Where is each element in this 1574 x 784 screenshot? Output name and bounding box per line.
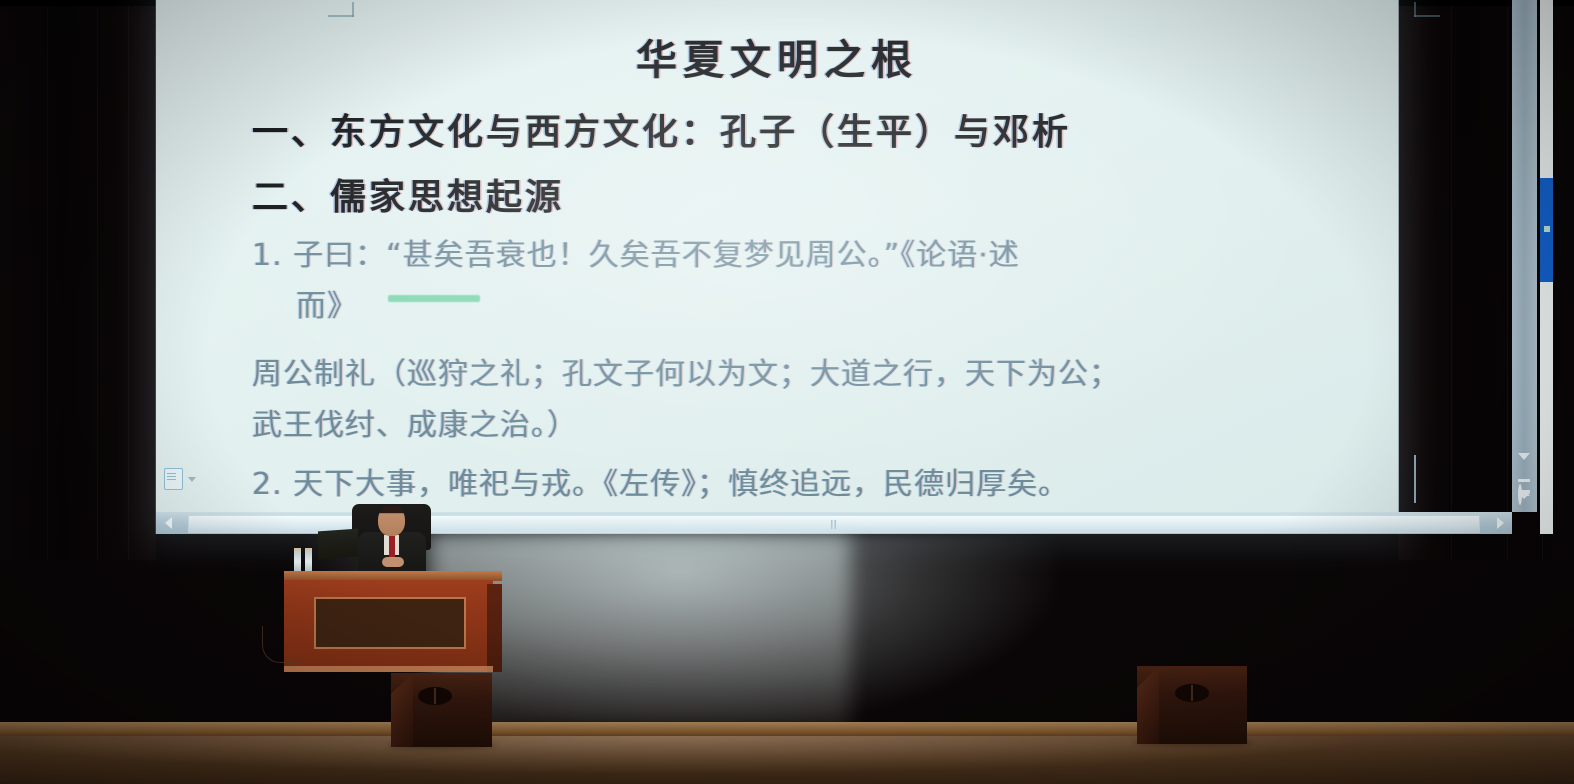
split-grip[interactable]	[831, 520, 838, 529]
speaker-grill-icon	[1175, 684, 1209, 702]
chevron-down-icon	[188, 477, 196, 482]
floor-cable	[262, 626, 299, 663]
top-left-margin-marker	[328, 2, 354, 17]
water-bottle	[294, 548, 301, 571]
word-document-page[interactable]: 华夏文明之根 一、东方文化与西方文化：孔子（生平）与邓析 二、儒家思想起源 1.…	[156, 0, 1356, 512]
water-bottle	[305, 548, 312, 571]
browse-up-button[interactable]	[1518, 473, 1531, 482]
scroll-right-arrow-icon[interactable]	[1488, 512, 1512, 534]
speaker-grill-icon	[418, 687, 452, 705]
text-insertion-caret	[1414, 455, 1416, 503]
document-paragraph-1-line-2: 而》	[296, 281, 358, 325]
podium-base-trim	[284, 666, 493, 672]
podium-side-face	[487, 584, 502, 672]
green-highlight-mark	[388, 295, 480, 302]
document-title: 华夏文明之根	[156, 26, 1398, 86]
window-scrollbar-thumb[interactable]	[1540, 178, 1553, 282]
document-paragraph-3-line-1: 2. 天下大事，唯祀与戎。《左传》；慎终追远，民德归厚矣。	[252, 459, 1069, 503]
stage-apron	[0, 736, 1574, 784]
browse-object-controls[interactable]	[1514, 460, 1535, 508]
stage-monitor-right	[1137, 666, 1247, 744]
speaker-hands	[382, 557, 404, 567]
speaker-tie	[389, 536, 395, 558]
document-heading-1: 一、东方文化与西方文化：孔子（生平）与邓析	[252, 103, 1372, 155]
document-paragraph-1-line-1: 1. 子曰：“甚矣吾衰也！久矣吾不复梦见周公。”《论语·述	[252, 230, 1020, 274]
scrollbar-thumb-grip	[1544, 226, 1550, 232]
stage-curtain-left	[0, 0, 156, 560]
lecture-hall-scene: 华夏文明之根 一、东方文化与西方文化：孔子（生平）与邓析 二、儒家思想起源 1.…	[0, 0, 1574, 784]
speaker-person	[358, 505, 426, 573]
document-paragraph-2-line-2: 武王伐纣、成康之治。）	[252, 400, 578, 444]
paste-options-icon[interactable]	[164, 468, 196, 490]
document-paragraph-2-line-1: 周公制礼（巡狩之礼；孔文子何以为文；大道之行，天下为公；	[252, 349, 1120, 393]
stage-monitor-left	[391, 673, 492, 747]
podium-inset-panel	[314, 597, 466, 649]
paste-page-glyph	[164, 468, 183, 490]
podium	[284, 571, 502, 672]
speaker-head	[378, 505, 405, 536]
scroll-left-arrow-icon[interactable]	[156, 512, 180, 534]
browse-down-button[interactable]	[1518, 499, 1531, 508]
laptop	[318, 529, 358, 560]
vertical-scrollbar[interactable]	[1512, 0, 1537, 512]
top-right-margin-marker	[1414, 2, 1440, 17]
document-heading-2: 二、儒家思想起源	[252, 168, 1372, 220]
projection-screen: 华夏文明之根 一、东方文化与西方文化：孔子（生平）与邓析 二、儒家思想起源 1.…	[156, 0, 1398, 534]
previous-page-button[interactable]	[1518, 460, 1531, 469]
